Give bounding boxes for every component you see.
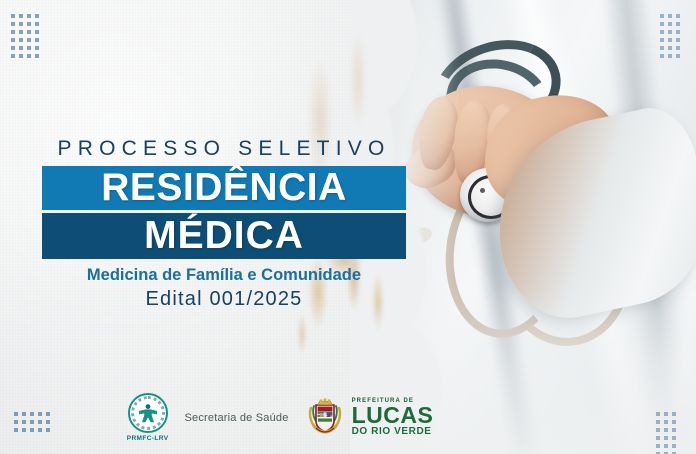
prefeitura-name: LUCAS [352,404,434,427]
subtitle-text: Medicina de Família e Comunidade [42,266,406,285]
prmfc-ring-text [131,396,165,430]
brasao-coat-of-arms-icon [305,396,345,440]
footer-logo-row: PRMFC-LRV Secretaria de Saúde [0,393,560,442]
prefeitura-wordmark: PREFEITURA DE LUCAS DO RIO VERDE [352,398,434,437]
dot-grid-decoration-top-left [11,14,39,58]
secretaria-de-saude-text: Secretaria de Saúde [184,412,288,424]
kicker-text: PROCESSO SELETIVO [42,137,406,161]
prmfc-label: PRMFC-LRV [127,435,169,442]
prmfc-emblem-icon [128,393,168,433]
edital-text: Edital 001/2025 [42,288,406,311]
title-bar-residencia: RESIDÊNCIA [42,166,406,210]
stethoscope-chestpiece-detail [480,188,485,193]
title-line-1: RESIDÊNCIA [101,166,347,210]
title-line-2: MÉDICA [144,214,304,258]
dot-grid-decoration-bottom-right [656,412,676,454]
dot-grid-decoration-top-right [660,14,680,58]
prmfc-logo: PRMFC-LRV [127,393,169,442]
poster-canvas: PROCESSO SELETIVO RESIDÊNCIA MÉDICA Medi… [0,0,696,454]
prefeitura-logo: PREFEITURA DE LUCAS DO RIO VERDE [305,396,434,440]
prefeitura-subname: DO RIO VERDE [352,427,434,437]
title-bar-medica: MÉDICA [42,213,406,259]
brasao-svg [305,396,345,440]
